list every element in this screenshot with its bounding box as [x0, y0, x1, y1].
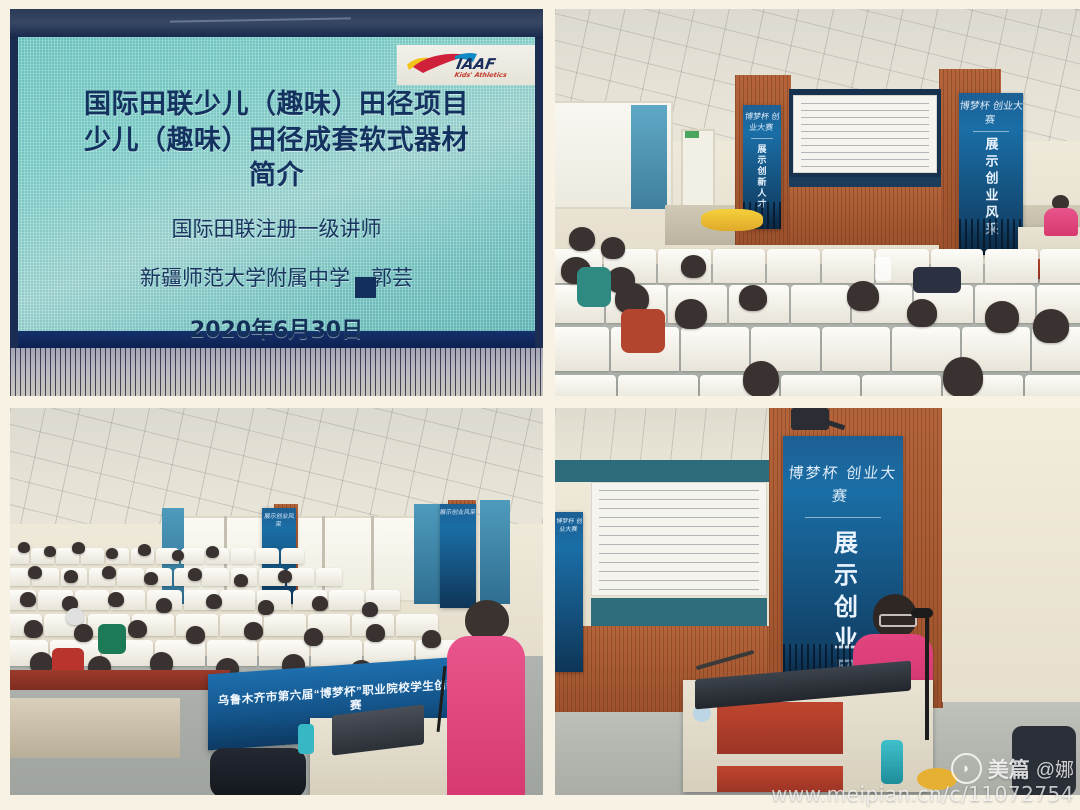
student-head	[156, 598, 172, 613]
audience-head	[943, 357, 983, 396]
floor-backpack	[210, 748, 306, 795]
student-head	[422, 630, 441, 648]
photo-audience-stage[interactable]: 博梦杯 创业大赛 展示创新人才 博梦杯 创业大赛 展示创业风采	[555, 9, 1080, 396]
curtain-right	[414, 504, 440, 604]
screen-lower-band-3	[591, 598, 767, 628]
speaker-figure	[1044, 195, 1078, 235]
student-head	[362, 602, 378, 617]
photo-speaker-podium[interactable]: 博梦杯 创业大赛 博梦杯 创业大赛 展示创业风采	[555, 408, 1080, 795]
student-head	[138, 544, 151, 556]
audience-head	[1033, 309, 1069, 343]
screen-handwriting	[599, 488, 759, 590]
student-head	[304, 628, 323, 646]
audience-body	[621, 309, 665, 353]
photo-students-banner[interactable]: 展示创业风采 展示创业风采	[10, 408, 543, 795]
curtain-far-right	[480, 500, 510, 604]
cursor-block	[355, 277, 376, 298]
student-head	[206, 546, 219, 558]
slide-subtitle-2: 新疆师范大学附属中学 郭芸	[22, 265, 531, 292]
banner-rule-2	[973, 131, 1009, 132]
student-head	[366, 624, 385, 642]
chair-back	[1012, 726, 1076, 795]
curtain-below-screen	[10, 348, 543, 396]
speaker-body	[1044, 208, 1078, 236]
student-head	[206, 594, 222, 609]
water-bottle	[875, 257, 891, 281]
presenter-head	[465, 600, 509, 640]
main-banner-title: 博梦杯 创业大赛	[783, 436, 903, 507]
main-banner-rule	[805, 517, 882, 518]
seat-row-4	[555, 375, 1080, 396]
audience-body	[577, 267, 611, 307]
svg-text:Kids' Athletics: Kids' Athletics	[454, 71, 508, 79]
slide-subtitle-1: 国际田联注册一级讲师	[22, 216, 531, 243]
audience-head	[569, 227, 595, 251]
side-banner-2-title: 展示创业风采	[440, 504, 476, 517]
curtain-blue	[631, 105, 667, 209]
door	[681, 129, 715, 215]
audience-head	[675, 299, 707, 329]
slide-title-line-3: 简介	[22, 158, 531, 194]
audience-head	[847, 281, 879, 311]
stage-banner-right-title: 博梦杯 创业大赛	[959, 93, 1023, 127]
student-head	[258, 600, 274, 615]
student-head	[18, 542, 30, 553]
right-wall	[942, 408, 1080, 702]
podium-red-panel	[717, 702, 843, 754]
microphone-head	[911, 608, 933, 618]
iaaf-kids-athletics-logo: IAAF Kids' Athletics	[397, 45, 535, 85]
hall-scene: 博梦杯 创业大赛 展示创新人才 博梦杯 创业大赛 展示创业风采	[555, 9, 1080, 396]
stage-banner-left-title: 博梦杯 创业大赛	[743, 105, 781, 134]
student-head	[106, 548, 118, 559]
student-head	[312, 596, 328, 611]
student-body	[98, 624, 126, 654]
backpack	[913, 267, 961, 293]
slide-title-line-1: 国际田联少儿（趣味）田径项目	[22, 87, 531, 123]
flower-arrangement	[701, 209, 763, 231]
student-head	[102, 566, 116, 579]
exit-sign-icon	[685, 131, 699, 138]
front-desk	[10, 698, 180, 758]
student-head	[108, 592, 124, 607]
projection-screen-3	[591, 482, 767, 596]
tape-roll	[917, 768, 957, 790]
audience-head	[985, 301, 1019, 333]
student-head	[234, 574, 248, 587]
presenter-body	[447, 636, 525, 795]
student-head	[44, 546, 56, 557]
photo-collage: IAAF Kids' Athletics 国际田联少儿（趣味）田径项目 少儿（趣…	[0, 0, 1080, 810]
side-banner-2: 展示创业风采	[440, 504, 476, 608]
presenter-figure	[447, 600, 525, 795]
student-head	[144, 572, 158, 585]
student-head	[186, 626, 205, 644]
student-head	[244, 622, 263, 640]
slide-date: 2020年6月30日	[22, 312, 531, 344]
water-bottle-2	[298, 724, 314, 754]
screen-text-lines	[801, 101, 929, 167]
stage-wood-wall	[789, 187, 941, 245]
microphone-stand-3	[925, 614, 929, 740]
student-head	[20, 592, 36, 607]
student-head	[278, 570, 292, 583]
student-head	[28, 566, 42, 579]
slide-text-block: 国际田联少儿（趣味）田径项目 少儿（趣味）田径成套软式器材 简介 国际田联注册一…	[22, 87, 531, 344]
student-head	[72, 542, 85, 554]
audience-head	[907, 299, 937, 327]
student-head	[74, 624, 93, 642]
hall-scene-3: 博梦杯 创业大赛 博梦杯 创业大赛 展示创业风采	[555, 408, 1080, 795]
audience-head	[601, 237, 625, 259]
stage-banner-right: 博梦杯 创业大赛 展示创业风采	[959, 93, 1023, 255]
banner-rule	[751, 138, 772, 139]
podium-red-base	[717, 766, 843, 792]
side-banner-edge: 博梦杯 创业大赛	[555, 512, 583, 672]
stage-banner-left-vertical: 展示创新人才	[756, 144, 769, 210]
side-banner-1-title: 展示创业风采	[262, 508, 296, 529]
student-head	[172, 550, 184, 561]
student-head-masked	[66, 608, 84, 625]
photo-slide[interactable]: IAAF Kids' Athletics 国际田联少儿（趣味）田径项目 少儿（趣…	[10, 9, 543, 396]
student-head	[24, 620, 43, 638]
hall-scene-2: 展示创业风采 展示创业风采	[10, 408, 543, 795]
side-banner-edge-title: 博梦杯 创业大赛	[555, 512, 583, 534]
projection-screen-stage	[793, 95, 937, 173]
water-bottle-3	[881, 740, 903, 784]
ceiling-strip	[10, 9, 543, 39]
student-head	[128, 620, 147, 638]
student-head	[188, 568, 202, 581]
student-head	[64, 570, 78, 583]
desk-row	[10, 670, 230, 690]
audience-head	[739, 285, 767, 311]
slide-title-line-2: 少儿（趣味）田径成套软式器材	[22, 123, 531, 159]
audience-head	[743, 361, 779, 396]
student-row-2	[10, 568, 344, 586]
audience-head	[681, 255, 706, 278]
wall-teal-band	[555, 460, 779, 482]
